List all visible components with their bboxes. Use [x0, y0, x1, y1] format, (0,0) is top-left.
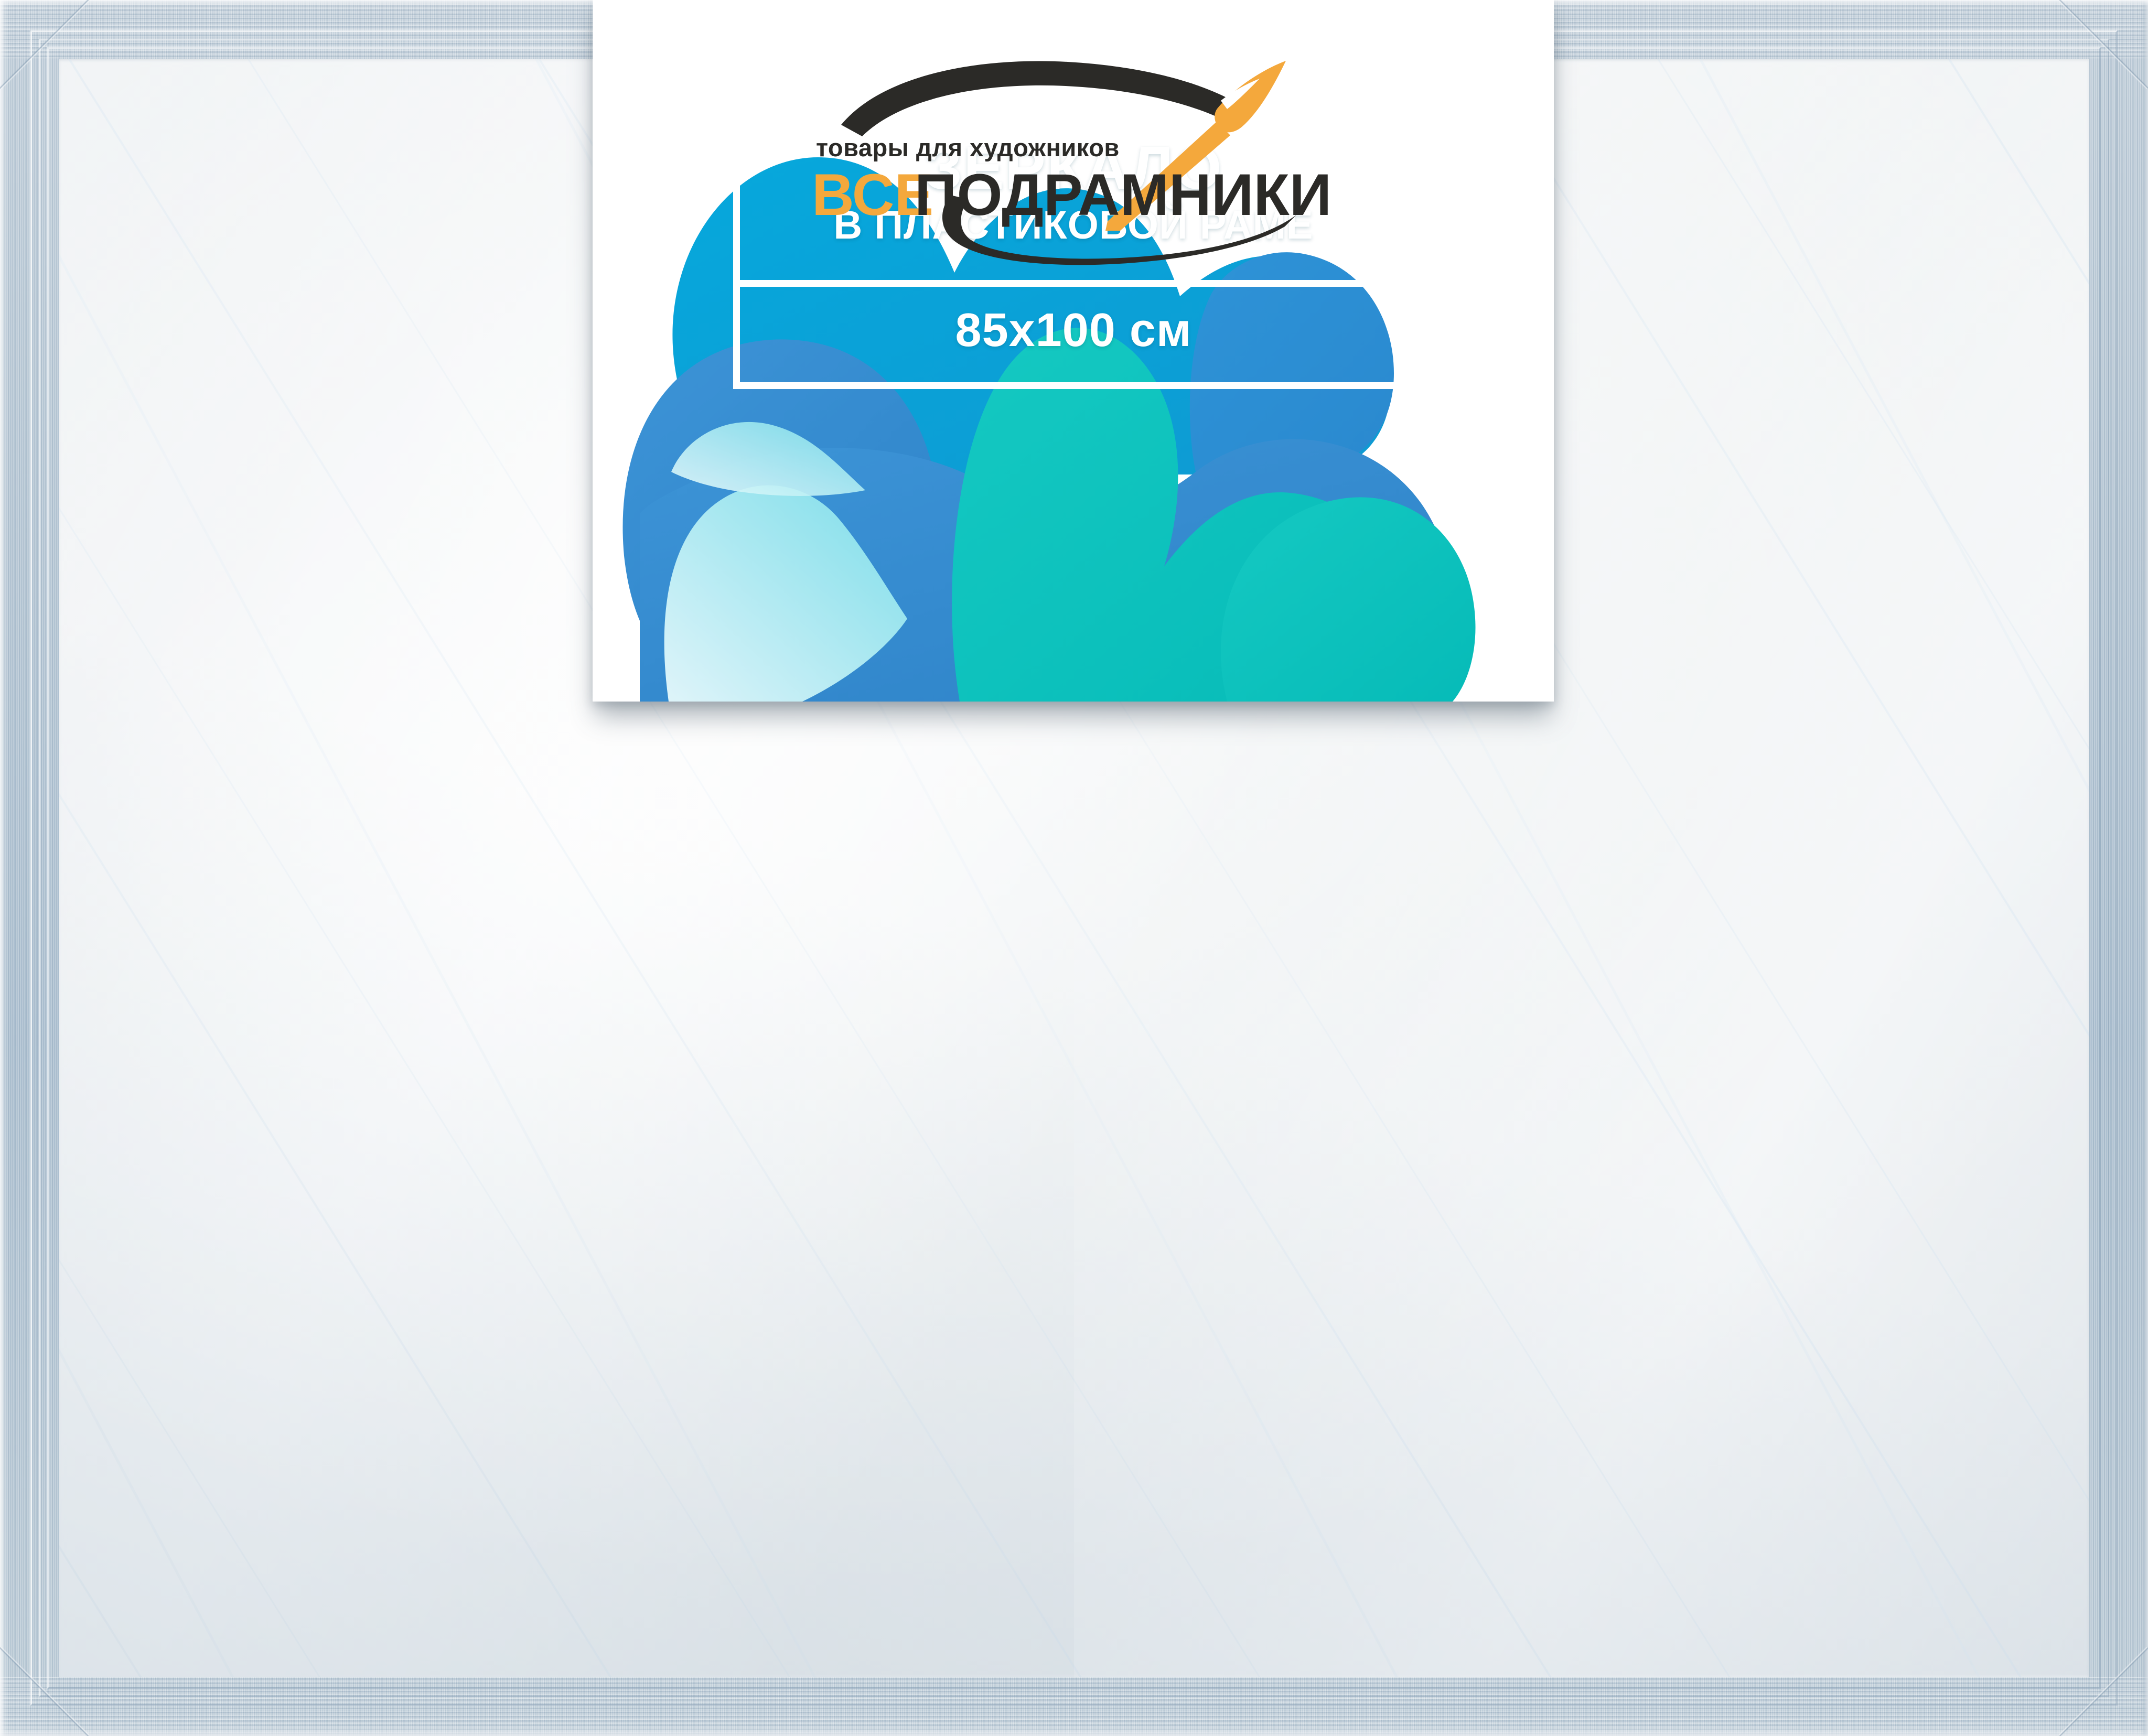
- label-card: ЗЕРКАЛО В ПЛАСТИКОВОЙ РАМЕ 85x100 см тов…: [593, 0, 1554, 702]
- logo-tagline-text: товары для художников: [816, 134, 1120, 161]
- outline-box-divider: [733, 280, 1414, 287]
- product-image-canvas: ЗЕРКАЛО В ПЛАСТИКОВОЙ РАМЕ 85x100 см тов…: [0, 0, 2148, 1736]
- size-label-text: 85x100 см: [733, 307, 1414, 354]
- frame-rail-bottom: [0, 1677, 2148, 1736]
- swoosh-arc-top-icon: [841, 61, 1234, 136]
- brand-logo-bottom-swoosh: [907, 190, 1306, 268]
- swoosh-arc-bottom-icon: [942, 195, 1296, 265]
